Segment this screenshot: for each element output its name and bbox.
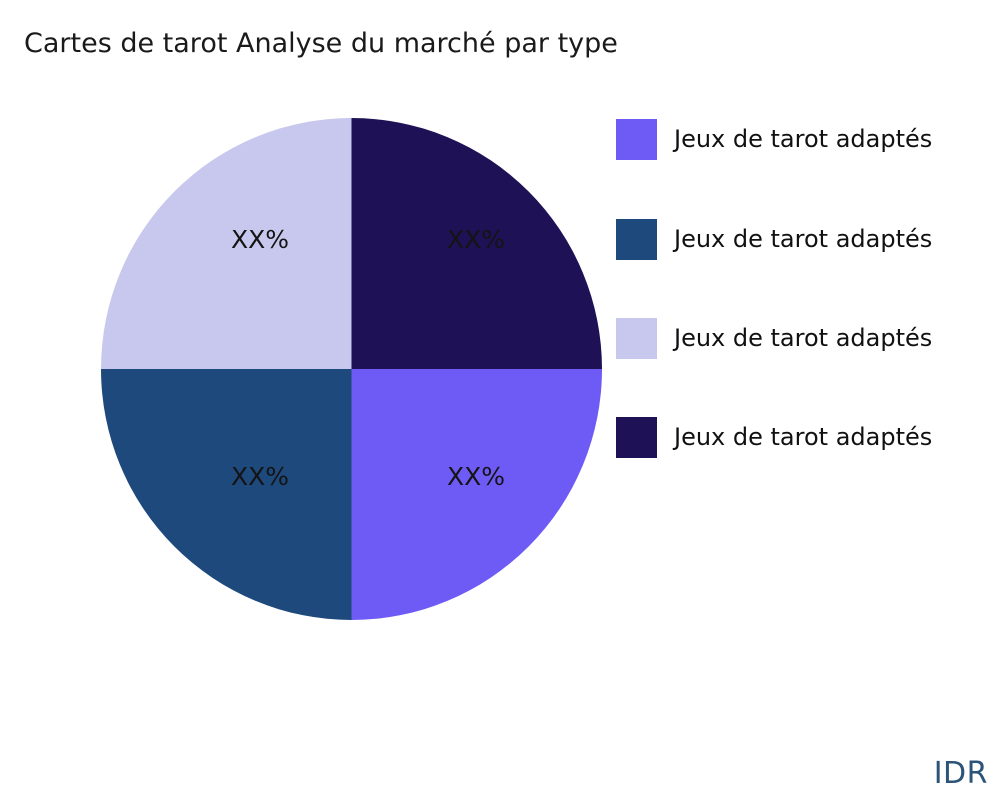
pie-slice-label-bottom-right: XX% bbox=[447, 462, 505, 491]
pie-slice-top-left[interactable] bbox=[101, 118, 352, 369]
page-title: Cartes de tarot Analyse du marché par ty… bbox=[24, 27, 618, 61]
pie-slice-bottom-left[interactable] bbox=[101, 369, 352, 620]
pie-slice-bottom-right[interactable] bbox=[352, 369, 603, 620]
pie-slice-label-bottom-left: XX% bbox=[231, 462, 289, 491]
chart-legend: Jeux de tarot adaptés Jeux de tarot adap… bbox=[616, 118, 1000, 470]
legend-item-3[interactable]: Jeux de tarot adaptés bbox=[616, 416, 932, 458]
legend-label-3: Jeux de tarot adaptés bbox=[674, 423, 932, 451]
legend-swatch-icon-2 bbox=[616, 318, 657, 359]
legend-swatch-icon-0 bbox=[616, 119, 657, 160]
legend-label-1: Jeux de tarot adaptés bbox=[674, 225, 932, 253]
legend-item-2[interactable]: Jeux de tarot adaptés bbox=[616, 317, 932, 359]
chart-canvas: Cartes de tarot Analyse du marché par ty… bbox=[0, 0, 1000, 800]
pie-slice-label-top-right: XX% bbox=[447, 225, 505, 254]
pie-chart: XX% XX% XX% XX% bbox=[101, 118, 602, 620]
legend-item-0[interactable]: Jeux de tarot adaptés bbox=[616, 118, 932, 160]
legend-label-0: Jeux de tarot adaptés bbox=[674, 125, 932, 153]
legend-label-2: Jeux de tarot adaptés bbox=[674, 324, 932, 352]
legend-swatch-icon-3 bbox=[616, 417, 657, 458]
pie-slice-label-top-left: XX% bbox=[231, 225, 289, 254]
watermark-label: IDR bbox=[934, 756, 988, 792]
pie-chart-svg: XX% XX% XX% XX% bbox=[101, 118, 602, 620]
legend-swatch-icon-1 bbox=[616, 219, 657, 260]
legend-item-1[interactable]: Jeux de tarot adaptés bbox=[616, 218, 932, 260]
